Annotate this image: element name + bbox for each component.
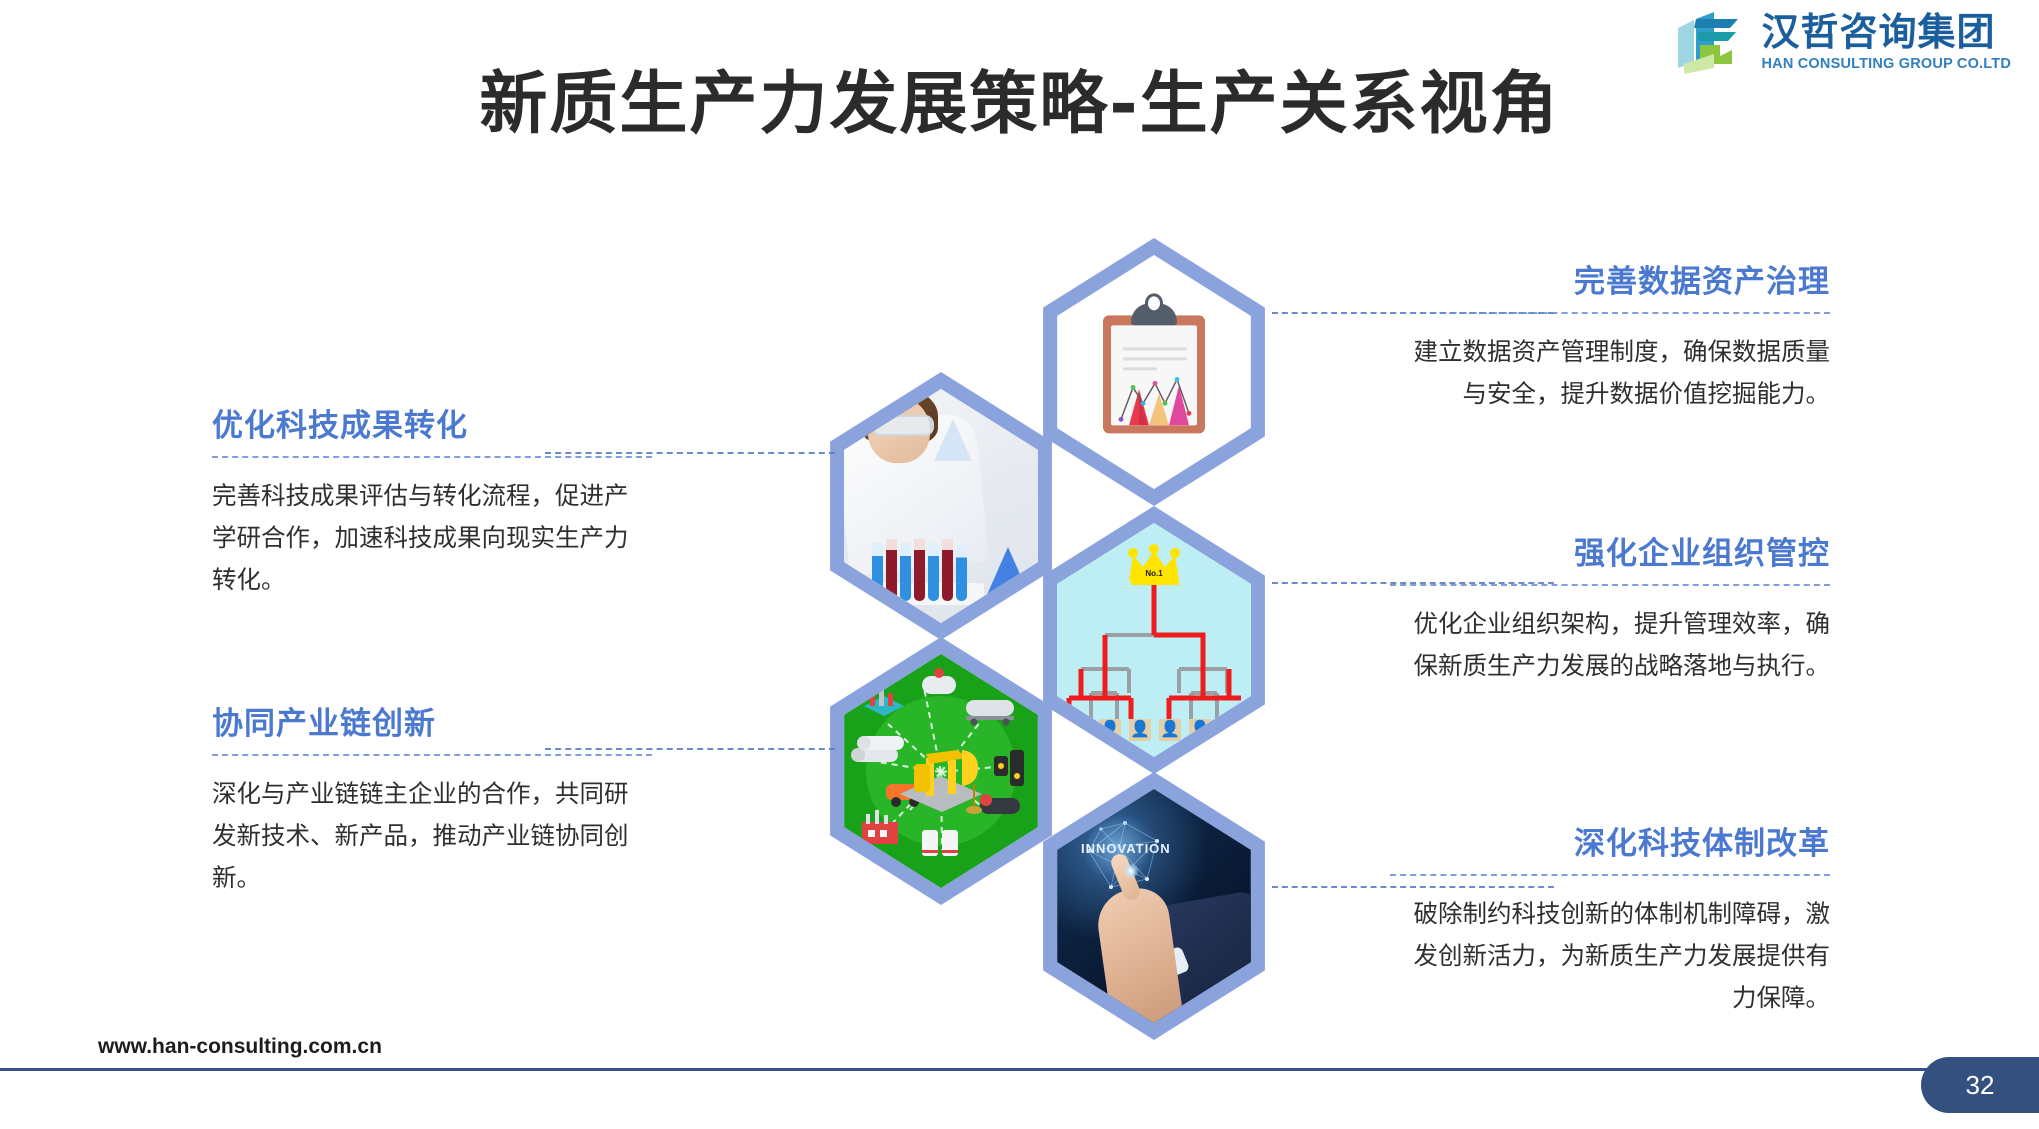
text-block-right-3: 深化科技体制改革 破除制约科技创新的体制机制障碍，激发创新活力，为新质生产力发展… bbox=[1390, 818, 1830, 1019]
block-body: 建立数据资产管理制度，确保数据质量与安全，提升数据价值挖掘能力。 bbox=[1390, 331, 1830, 415]
text-block-right-1: 完善数据资产治理 建立数据资产管理制度，确保数据质量与安全，提升数据价值挖掘能力… bbox=[1390, 256, 1830, 415]
page-number-badge: 32 bbox=[1921, 1057, 2039, 1113]
hexagon-org-bracket: No.1 👤 👤 👤 👤 👤 👤 bbox=[1036, 506, 1272, 774]
text-block-left-2: 协同产业链创新 深化与产业链链主企业的合作，共同研发新技术、新产品，推动产业链协… bbox=[212, 698, 652, 899]
logo-chinese-name: 汉哲咨询集团 bbox=[1762, 14, 2011, 52]
hexagon-lab-research bbox=[823, 372, 1059, 640]
block-divider bbox=[212, 456, 652, 458]
footer-website-url[interactable]: www.han-consulting.com.cn bbox=[98, 1035, 382, 1059]
block-heading: 强化企业组织管控 bbox=[1390, 528, 1830, 573]
crown-rank-label: No.1 bbox=[1145, 569, 1162, 578]
block-divider bbox=[212, 754, 652, 756]
block-heading: 深化科技体制改革 bbox=[1390, 818, 1830, 863]
block-heading: 协同产业链创新 bbox=[212, 698, 652, 743]
block-body: 完善科技成果评估与转化流程，促进产学研合作，加速科技成果向现实生产力转化。 bbox=[212, 475, 652, 601]
hexagon-industry-chain bbox=[823, 637, 1059, 905]
text-block-right-2: 强化企业组织管控 优化企业组织架构，提升管理效率，确保新质生产力发展的战略落地与… bbox=[1390, 528, 1830, 687]
text-block-left-1: 优化科技成果转化 完善科技成果评估与转化流程，促进产学研合作，加速科技成果向现实… bbox=[212, 400, 652, 601]
block-body: 深化与产业链链主企业的合作，共同研发新技术、新产品，推动产业链协同创新。 bbox=[212, 773, 652, 899]
hexagon-innovation-touch: INNOVATION bbox=[1036, 772, 1272, 1040]
block-divider bbox=[1390, 584, 1830, 586]
innovation-overlay-text: INNOVATION bbox=[1081, 841, 1171, 856]
block-heading: 优化科技成果转化 bbox=[212, 400, 652, 445]
block-body: 优化企业组织架构，提升管理效率，确保新质生产力发展的战略落地与执行。 bbox=[1390, 603, 1830, 687]
footer-divider bbox=[0, 1068, 2039, 1071]
block-heading: 完善数据资产治理 bbox=[1390, 256, 1830, 301]
block-body: 破除制约科技创新的体制机制障碍，激发创新活力，为新质生产力发展提供有力保障。 bbox=[1390, 893, 1830, 1019]
hexagon-clipboard-chart bbox=[1036, 238, 1272, 506]
slide-title: 新质生产力发展策略-生产关系视角 bbox=[0, 48, 2039, 147]
block-divider bbox=[1390, 312, 1830, 314]
block-divider bbox=[1390, 874, 1830, 876]
